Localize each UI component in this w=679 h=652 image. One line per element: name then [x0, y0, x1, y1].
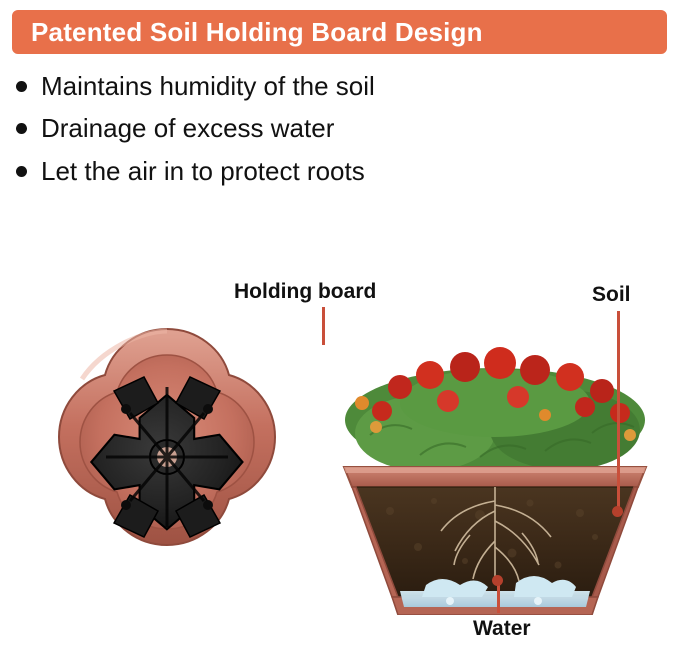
list-item: Drainage of excess water	[16, 112, 656, 145]
pot-top-down-svg	[22, 309, 312, 609]
cross-section-svg	[330, 315, 660, 615]
leader-line-soil	[617, 311, 620, 511]
list-item: Let the air in to protect roots	[16, 155, 656, 188]
pot-top-down-view	[22, 309, 312, 609]
callout-label-holding-board: Holding board	[234, 280, 376, 304]
page-title: Patented Soil Holding Board Design	[31, 17, 483, 48]
bullet-dot-icon	[16, 166, 27, 177]
pot-rim	[344, 467, 646, 487]
header-banner-inner: Patented Soil Holding Board Design	[15, 13, 664, 51]
feature-bullet-list: Maintains humidity of the soil Drainage …	[16, 70, 656, 197]
header-banner: Patented Soil Holding Board Design	[12, 10, 667, 54]
list-item: Maintains humidity of the soil	[16, 70, 656, 103]
product-illustration: Holding board Soil Water	[0, 255, 679, 652]
list-item-label: Drainage of excess water	[41, 112, 334, 145]
water-point-marker	[492, 575, 503, 586]
list-item-label: Let the air in to protect roots	[41, 155, 365, 188]
plant-foliage	[345, 347, 645, 472]
bullet-dot-icon	[16, 123, 27, 134]
leader-line-holding-board	[322, 307, 325, 345]
list-item-label: Maintains humidity of the soil	[41, 70, 375, 103]
soil-point-marker	[612, 506, 623, 517]
bullet-dot-icon	[16, 81, 27, 92]
planter-cross-section-view	[330, 315, 660, 615]
callout-label-soil: Soil	[592, 283, 631, 307]
callout-label-water: Water	[473, 617, 531, 641]
